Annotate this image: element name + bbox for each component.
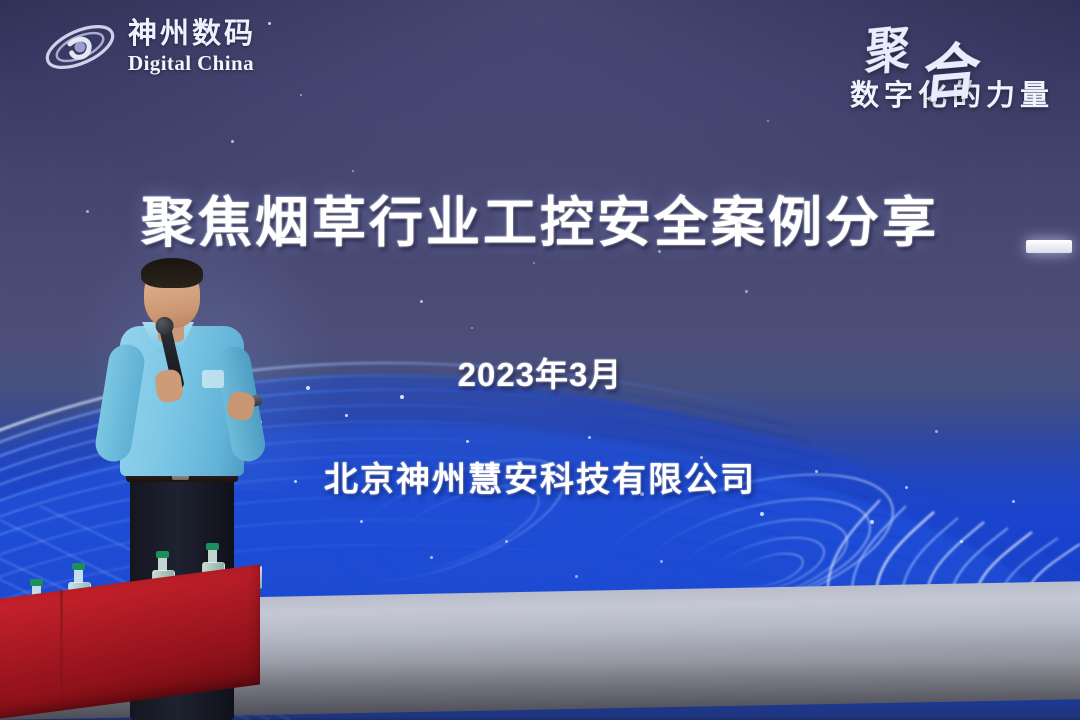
brand-name-cn: 神州数码 — [128, 20, 256, 49]
calligraphy-ju: 聚 — [864, 7, 912, 85]
digital-china-logo: 神州数码 Digital China — [42, 16, 256, 78]
calligraphy-he: 合 — [919, 22, 985, 116]
foreground-table — [0, 560, 270, 720]
speaker-shirt-logo — [202, 370, 224, 388]
digital-china-swirl-icon — [42, 16, 118, 78]
presentation-photo: 神州数码 Digital China 聚 合 数字化的力量 聚焦烟草行业工控安全… — [0, 0, 1080, 720]
brand-name-en: Digital China — [128, 53, 256, 74]
event-calligraphy: 聚 合 — [844, 14, 1054, 76]
speaker-right-hand — [154, 368, 184, 403]
event-logo: 聚 合 数字化的力量 — [844, 14, 1054, 114]
speaker-hair — [141, 258, 203, 288]
